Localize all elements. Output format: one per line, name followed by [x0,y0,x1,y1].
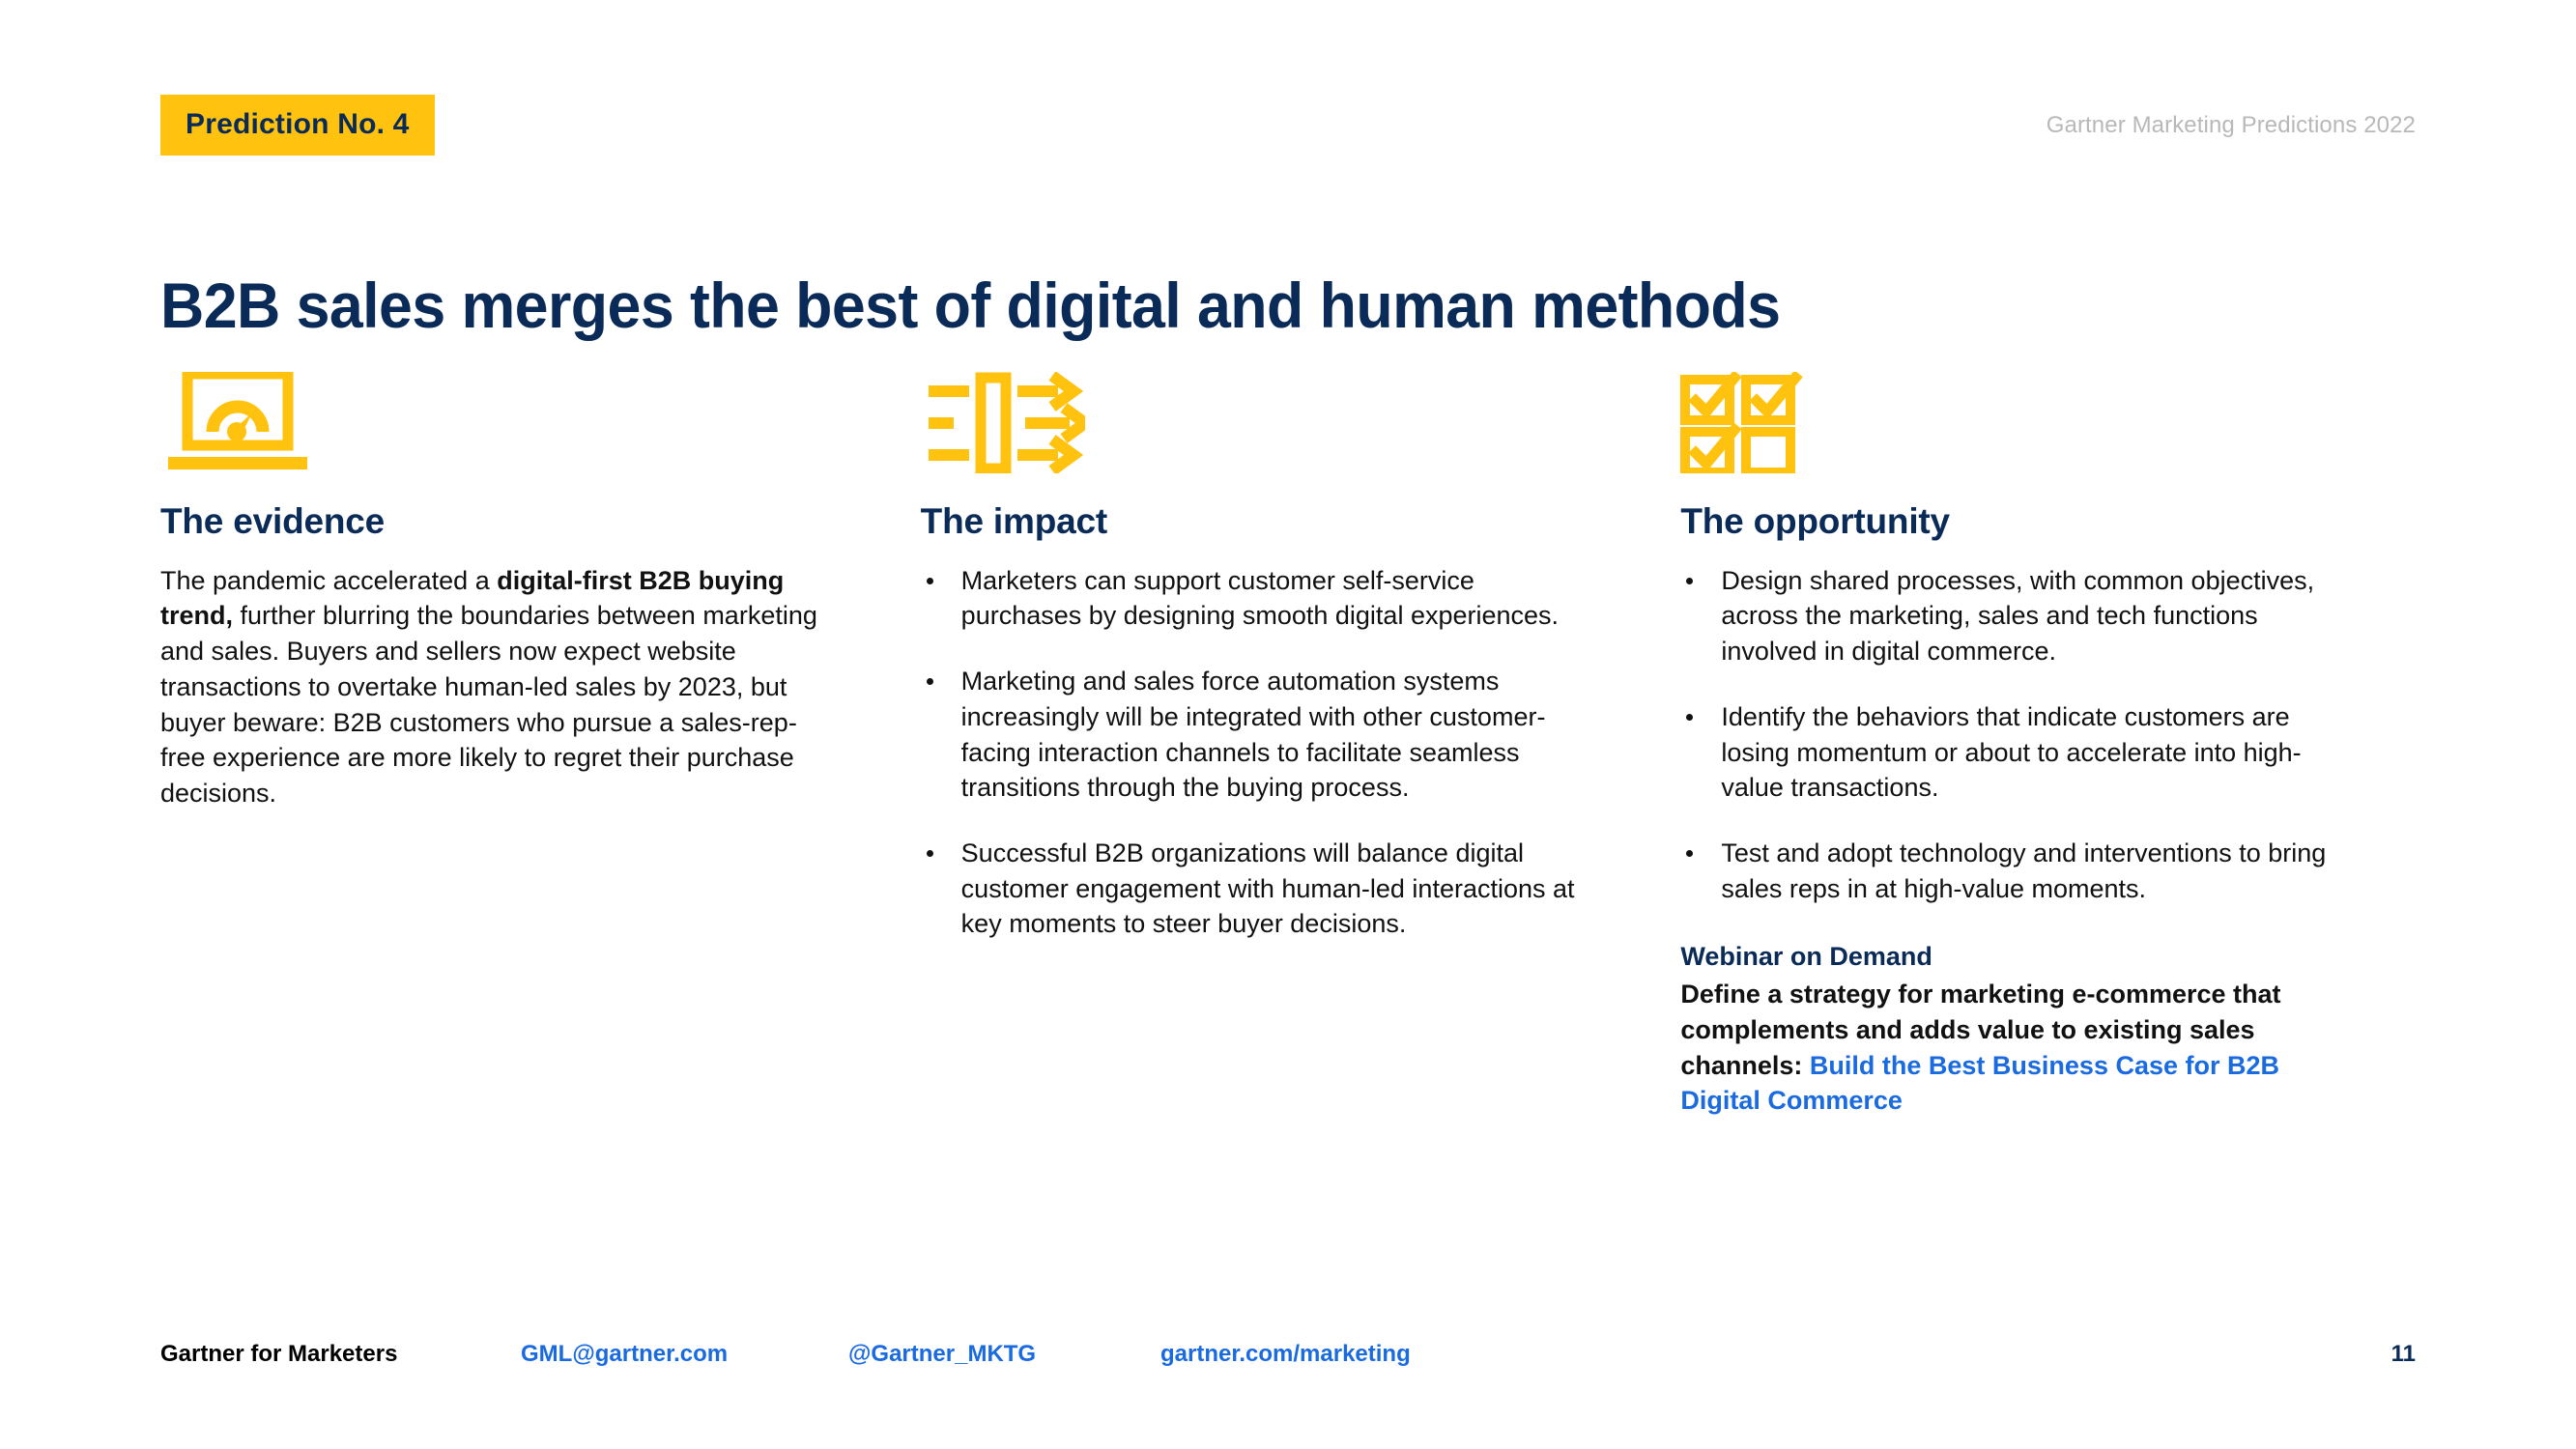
page-number: 11 [2391,1341,2416,1368]
content-columns: The evidence The pandemic accelerated a … [160,372,2441,1119]
paragraph-rest: further blurring the boundaries between … [160,601,817,808]
footer-brand: Gartner for Marketers [160,1341,397,1368]
slide-page: Prediction No. 4 Gartner Marketing Predi… [0,0,2576,1449]
webinar-on-demand-block: Webinar on Demand Define a strategy for … [1680,939,2344,1119]
column-opportunity: The opportunity Design shared processes,… [1680,372,2441,1119]
list-item: Identify the behaviors that indicate cus… [1680,699,2344,806]
laptop-speedometer-icon [160,372,824,473]
list-item: Test and adopt technology and interventi… [1680,836,2344,906]
column-impact: The impact Marketers can support custome… [921,372,1681,1119]
footer-website-link[interactable]: gartner.com/marketing [1160,1341,1411,1368]
prediction-number-badge: Prediction No. 4 [160,95,435,156]
series-title: Gartner Marketing Predictions 2022 [2046,112,2416,139]
column-heading: The impact [921,502,1585,542]
footer-email-link[interactable]: GML@gartner.com [521,1341,728,1368]
slide-header: Prediction No. 4 Gartner Marketing Predi… [160,95,2416,155]
column-evidence: The evidence The pandemic accelerated a … [160,372,921,1119]
checklist-grid-icon [1680,372,2344,473]
paragraph-lead: The pandemic accelerated a [160,566,497,595]
column-heading: The evidence [160,502,824,542]
slide-footer: Gartner for Marketers GML@gartner.com @G… [160,1341,2416,1374]
list-item: Marketers can support customer self-serv… [921,563,1585,634]
page-title: B2B sales merges the best of digital and… [160,272,2318,340]
list-item: Successful B2B organizations will balanc… [921,836,1585,942]
impact-bullet-list: Marketers can support customer self-serv… [921,563,1585,942]
opportunity-bullet-list: Design shared processes, with common obj… [1680,563,2344,907]
list-item: Marketing and sales force automation sys… [921,664,1585,806]
footer-twitter-link[interactable]: @Gartner_MKTG [848,1341,1036,1368]
webinar-description: Define a strategy for marketing e-commer… [1680,977,2344,1119]
webinar-title: Webinar on Demand [1680,939,2344,975]
evidence-paragraph: The pandemic accelerated a digital-first… [160,563,824,811]
column-heading: The opportunity [1680,502,2344,542]
list-item: Design shared processes, with common obj… [1680,563,2344,669]
process-flow-arrows-icon [921,372,1585,473]
